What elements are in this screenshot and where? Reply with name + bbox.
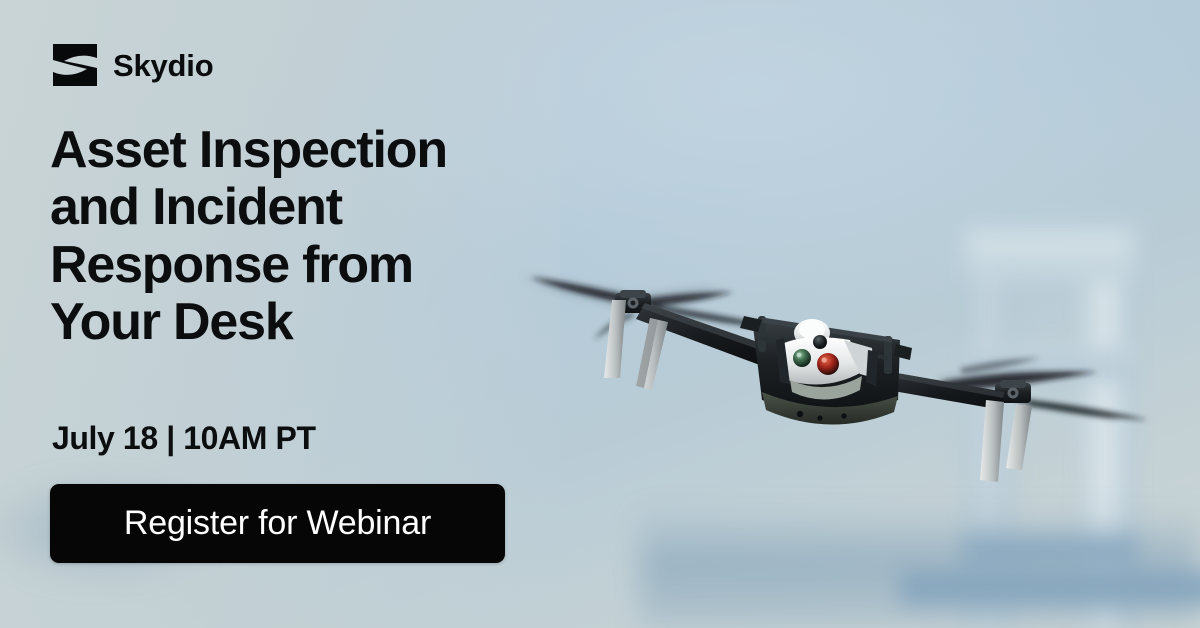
register-for-webinar-button[interactable]: Register for Webinar (50, 484, 505, 563)
camera-lens-thermal (793, 349, 811, 367)
headline-line-3: Response from (50, 236, 413, 294)
page-title: Asset Inspection and Incident Response f… (50, 122, 570, 352)
headline-line-4: Your Desk (50, 293, 293, 351)
skydio-logo[interactable]: Skydio (50, 42, 213, 88)
landing-leg-left-outer (604, 300, 626, 378)
skydio-wordmark: Skydio (113, 50, 213, 81)
camera-lens-color (817, 353, 839, 375)
headline-line-1: Asset Inspection (50, 121, 447, 179)
landing-leg-right-inner (1006, 404, 1032, 470)
skydio-z-mark-icon (50, 42, 100, 88)
event-date-time: July 18 | 10AM PT (52, 420, 316, 457)
headline-line-2: and Incident (50, 178, 342, 236)
camera-lens-nav (813, 335, 827, 349)
webinar-promo-banner: Skydio Asset Inspection and Incident Res… (0, 0, 1200, 628)
register-button-label: Register for Webinar (124, 504, 431, 543)
landing-leg-right-outer (980, 400, 1004, 482)
